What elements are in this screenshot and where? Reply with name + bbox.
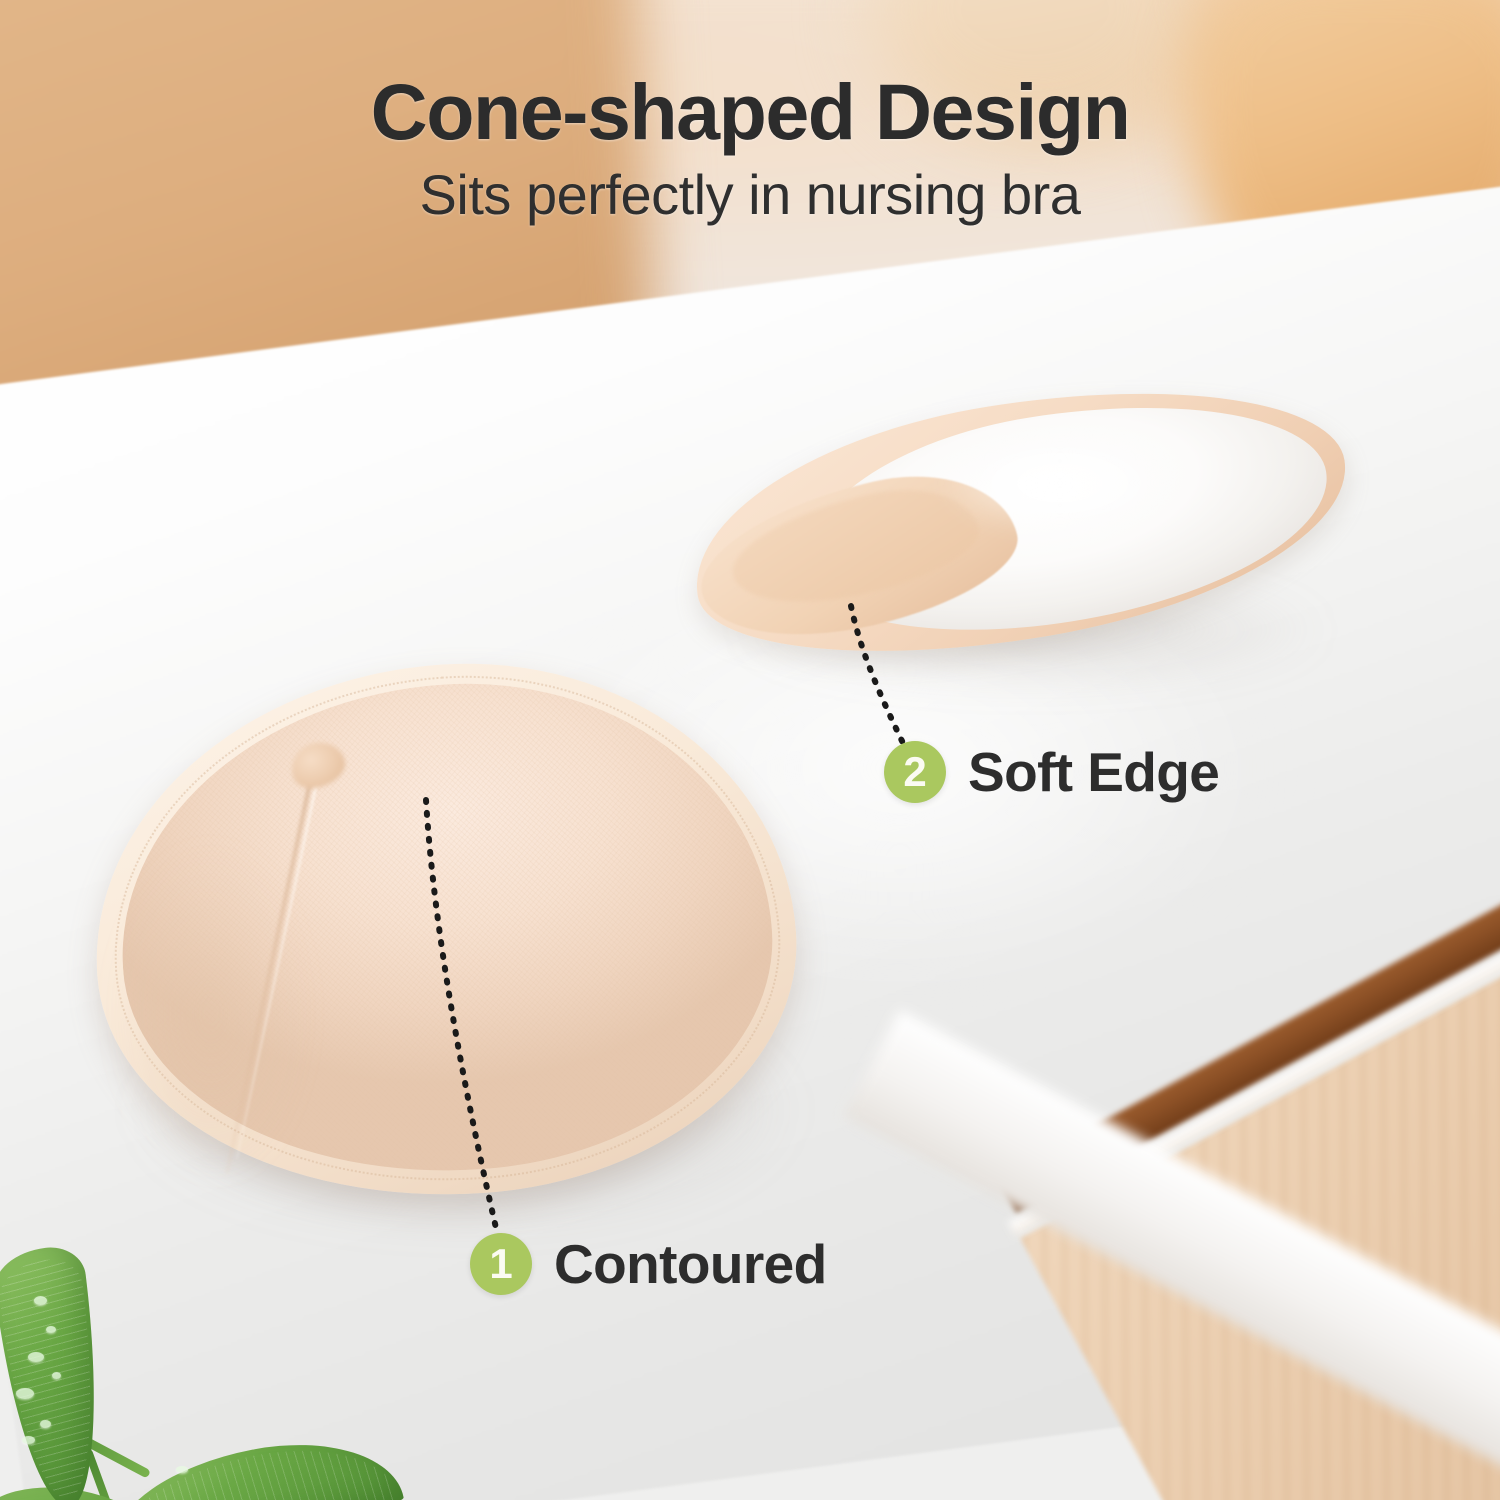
page-title: Cone-shaped Design (0, 72, 1500, 151)
nursing-pad-side-profile (690, 395, 1370, 665)
headline-block: Cone-shaped Design Sits perfectly in nur… (0, 72, 1500, 223)
side-pad-highlight (940, 435, 1240, 555)
water-droplet (34, 1296, 47, 1305)
water-droplet (22, 1436, 35, 1444)
badge-number-2: 2 (884, 741, 946, 803)
water-droplet (52, 1372, 61, 1379)
callout-soft-edge: 2 Soft Edge (884, 741, 1219, 803)
water-droplet (16, 1388, 34, 1399)
callout-label-contoured: Contoured (554, 1237, 827, 1292)
water-droplet (46, 1326, 56, 1333)
page-subtitle: Sits perfectly in nursing bra (0, 167, 1500, 223)
badge-number-1: 1 (470, 1233, 532, 1295)
bamboo-leaves (0, 1120, 390, 1500)
infographic-canvas: Cone-shaped Design Sits perfectly in nur… (0, 0, 1500, 1500)
water-droplet (40, 1420, 51, 1428)
callout-contoured: 1 Contoured (470, 1233, 827, 1295)
callout-label-soft-edge: Soft Edge (968, 745, 1219, 800)
water-droplet (176, 1466, 188, 1473)
water-droplet (28, 1352, 44, 1362)
